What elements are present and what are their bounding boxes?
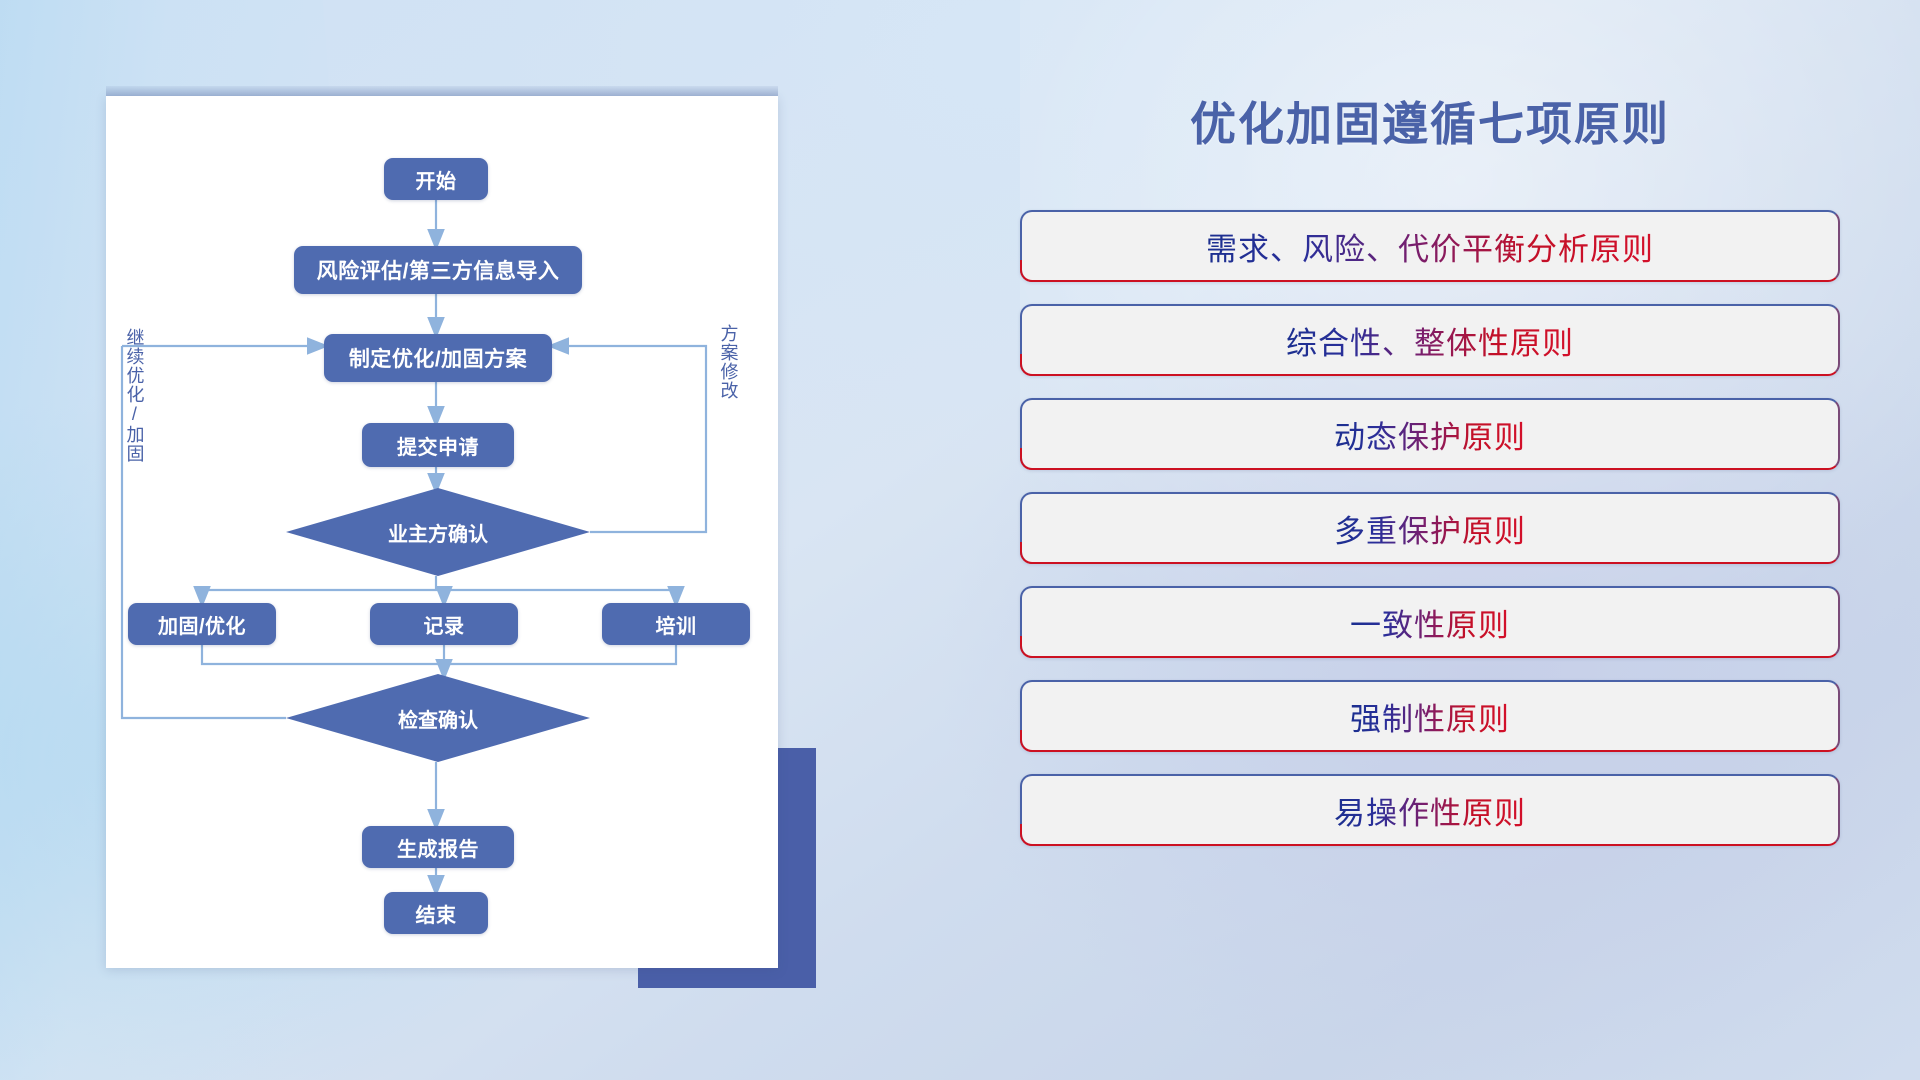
principle-item[interactable]: 强制性原则	[1020, 680, 1840, 752]
flow-node-label: 制定优化/加固方案	[349, 343, 527, 373]
flow-node-risk-assessment[interactable]: 风险评估/第三方信息导入	[294, 246, 582, 294]
principle-item[interactable]: 需求、风险、代价平衡分析原则	[1020, 210, 1840, 282]
flow-node-label: 检查确认	[398, 704, 478, 733]
principle-label: 强制性原则	[1350, 694, 1510, 739]
principle-label: 多重保护原则	[1334, 506, 1526, 551]
principle-item[interactable]: 多重保护原则	[1020, 492, 1840, 564]
flow-node-label: 提交申请	[397, 431, 479, 460]
flow-node-start[interactable]: 开始	[384, 158, 488, 200]
principle-item[interactable]: 动态保护原则	[1020, 398, 1840, 470]
flow-node-label: 培训	[656, 610, 697, 639]
principle-label: 综合性、整体性原则	[1286, 318, 1574, 363]
flow-node-make-plan[interactable]: 制定优化/加固方案	[324, 334, 552, 382]
principle-label: 需求、风险、代价平衡分析原则	[1206, 224, 1654, 269]
flow-decision-inspection-confirm[interactable]: 检查确认	[286, 674, 590, 762]
principles-panel: 优化加固遵循七项原则 需求、风险、代价平衡分析原则 综合性、整体性原则 动态保护…	[1020, 88, 1840, 846]
flow-node-record[interactable]: 记录	[370, 603, 518, 645]
flow-node-label: 风险评估/第三方信息导入	[317, 255, 560, 285]
flow-node-label: 生成报告	[397, 833, 479, 862]
card-top-rule	[106, 86, 778, 96]
principle-item[interactable]: 综合性、整体性原则	[1020, 304, 1840, 376]
flow-node-label: 结束	[416, 899, 457, 928]
principle-label: 易操作性原则	[1334, 788, 1526, 833]
principles-list: 需求、风险、代价平衡分析原则 综合性、整体性原则 动态保护原则 多重保护原则 一…	[1020, 210, 1840, 846]
principle-item[interactable]: 易操作性原则	[1020, 774, 1840, 846]
flow-node-submit-application[interactable]: 提交申请	[362, 423, 514, 467]
edge-label-continue-optimize: 继续优化/加固	[124, 328, 143, 463]
slide-canvas: 开始 风险评估/第三方信息导入 制定优化/加固方案 提交申请 业主方确认 加固/…	[0, 0, 1920, 1080]
flow-node-label: 记录	[424, 610, 465, 639]
flow-decision-owner-confirm[interactable]: 业主方确认	[286, 488, 590, 576]
flow-node-end[interactable]: 结束	[384, 892, 488, 934]
flowchart-card: 开始 风险评估/第三方信息导入 制定优化/加固方案 提交申请 业主方确认 加固/…	[106, 96, 778, 968]
flow-node-label: 加固/优化	[158, 610, 246, 639]
principle-item[interactable]: 一致性原则	[1020, 586, 1840, 658]
flow-node-reinforce-optimize[interactable]: 加固/优化	[128, 603, 276, 645]
flow-node-label: 开始	[416, 165, 457, 194]
page-title: 优化加固遵循七项原则	[1020, 88, 1840, 154]
flow-node-training[interactable]: 培训	[602, 603, 750, 645]
flowchart: 开始 风险评估/第三方信息导入 制定优化/加固方案 提交申请 业主方确认 加固/…	[106, 96, 778, 968]
principle-label: 动态保护原则	[1334, 412, 1526, 457]
flow-node-label: 业主方确认	[388, 518, 488, 547]
edge-label-plan-revision: 方案修改	[718, 324, 737, 400]
principle-label: 一致性原则	[1350, 600, 1510, 645]
flow-node-generate-report[interactable]: 生成报告	[362, 826, 514, 868]
